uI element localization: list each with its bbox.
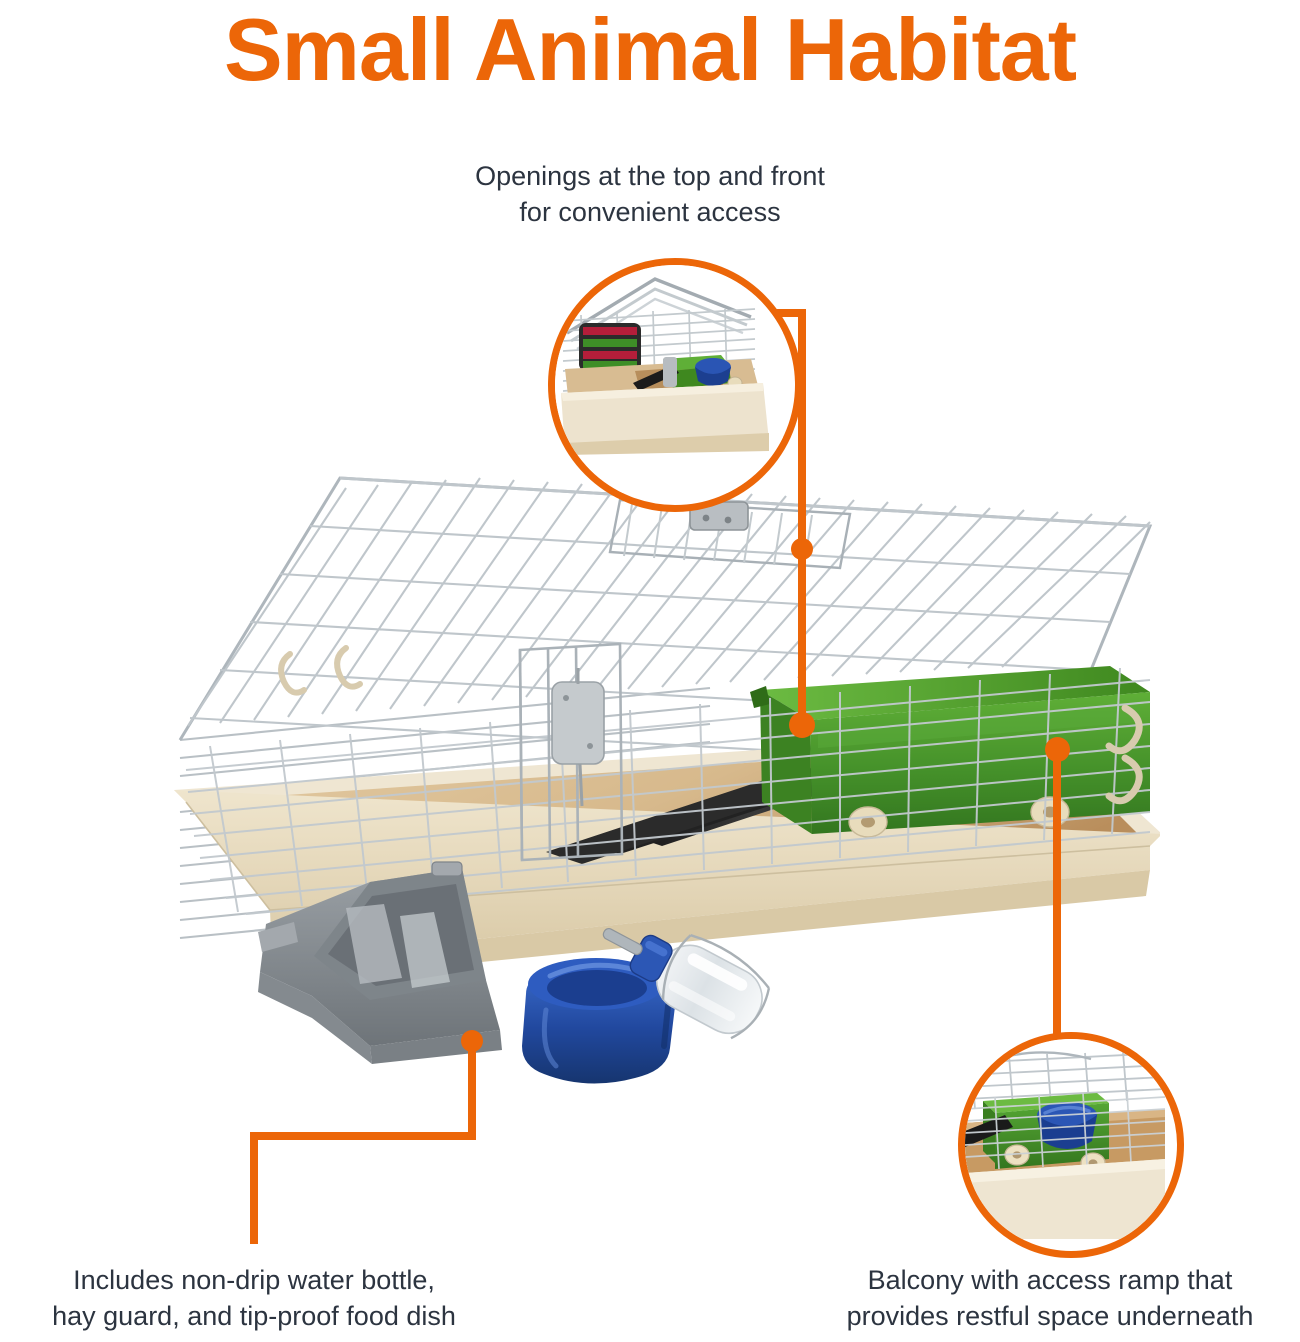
page-title: Small Animal Habitat [0, 2, 1300, 98]
accessories-group [250, 860, 780, 1100]
connector-right-vertical [1053, 745, 1061, 1045]
callout-top-image [555, 265, 795, 505]
callout-top-openings [548, 258, 802, 512]
connector-left-vertical-lower [250, 1132, 258, 1244]
connector-dot-right-start [1045, 737, 1070, 762]
hay-rack [579, 323, 641, 371]
callout-balcony [958, 1032, 1184, 1258]
callout-balcony-image [965, 1039, 1177, 1251]
connector-dot-top-end [789, 712, 815, 738]
connector-left-horizontal [250, 1132, 476, 1140]
caption-top-line2: for convenient access [330, 194, 970, 230]
caption-balcony: Balcony with access ramp that provides r… [800, 1262, 1300, 1334]
caption-left-line1: Includes non-drip water bottle, [0, 1262, 514, 1298]
infographic-canvas: Small Animal Habitat Openings at the top… [0, 0, 1300, 1342]
caption-top-openings: Openings at the top and front for conven… [330, 158, 970, 230]
caption-left-line2: hay guard, and tip-proof food dish [0, 1298, 514, 1334]
left-side-clip [281, 648, 360, 693]
caption-right-line2: provides restful space underneath [800, 1298, 1300, 1334]
caption-accessories: Includes non-drip water bottle, hay guar… [0, 1262, 514, 1334]
caption-right-line1: Balcony with access ramp that [800, 1262, 1300, 1298]
connector-left-vertical-upper [468, 1040, 476, 1139]
caption-top-line1: Openings at the top and front [330, 158, 970, 194]
connector-dot-top-mid [791, 538, 813, 560]
